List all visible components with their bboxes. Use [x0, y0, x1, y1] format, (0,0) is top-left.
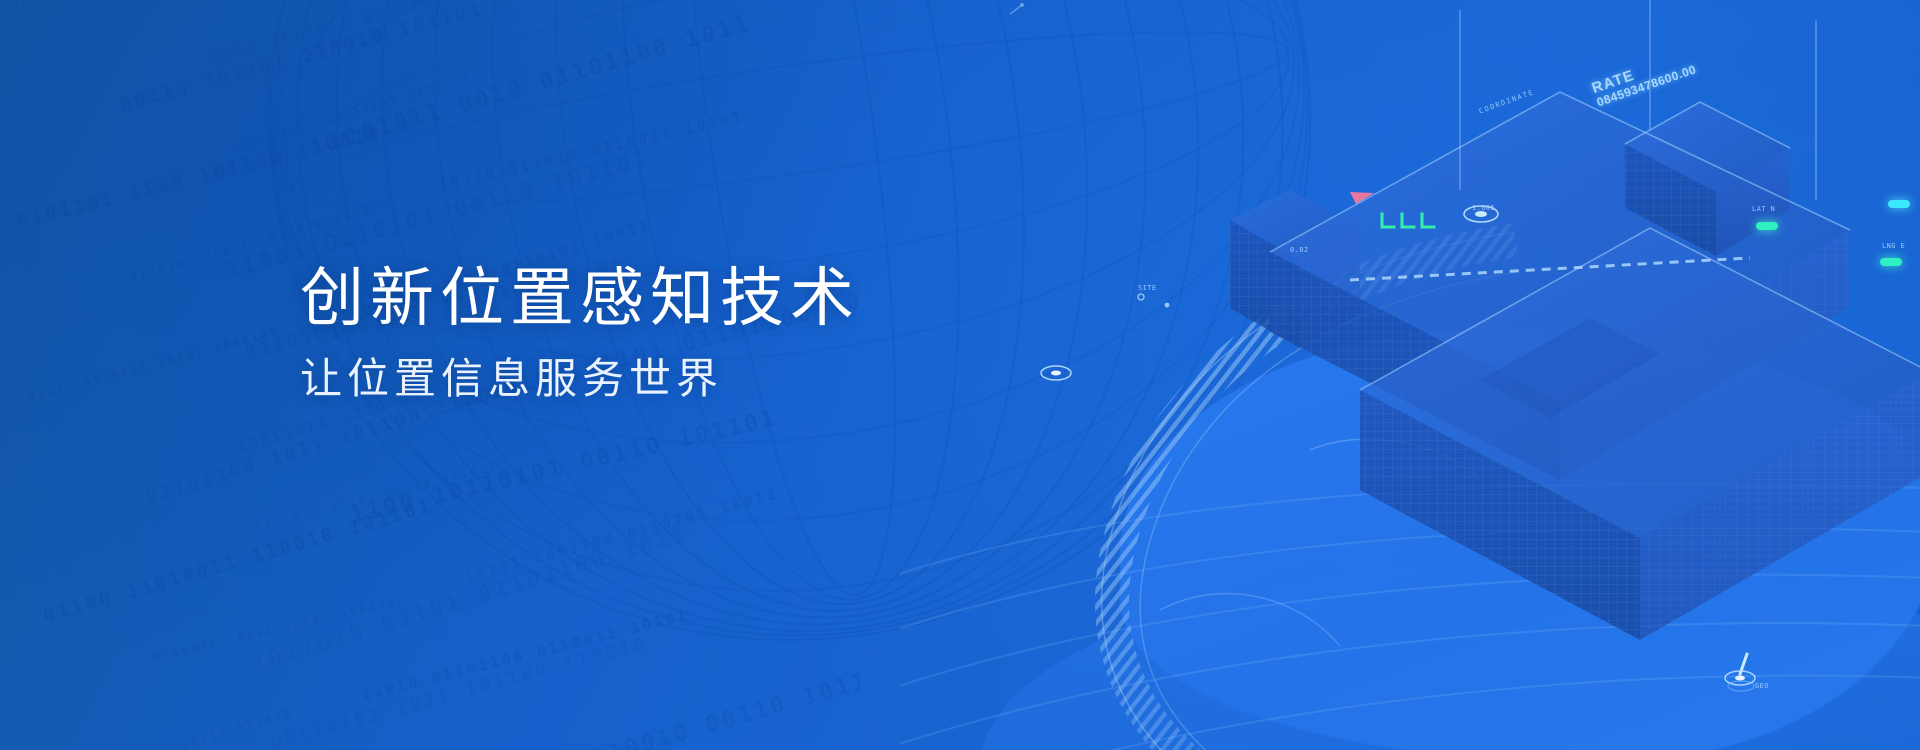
hud-tag-lng: LNG E	[1882, 242, 1905, 250]
hud-tag-site: SITE	[1138, 284, 1156, 292]
page-title: 创新位置感知技术	[300, 264, 1060, 333]
status-pill	[1756, 222, 1778, 230]
status-pill	[1888, 200, 1910, 208]
hero-copy: 创新位置感知技术 让位置信息服务世界	[300, 264, 1060, 402]
page-subtitle: 让位置信息服务世界	[300, 355, 1060, 402]
status-pill	[1880, 258, 1902, 266]
hero-banner: 01001101 1101 10110 0110101010 0110011 0…	[0, 0, 1920, 750]
hud-tag-rate-sub: 1.005	[1472, 204, 1495, 212]
isometric-city-model	[1230, 80, 1920, 640]
hud-tag-lat: LAT N	[1752, 205, 1775, 213]
binary-text-row: 01001101 1101 10110 011010	[52, 706, 295, 750]
binary-text-row: 0101 10110011 10101 1001100	[27, 325, 281, 405]
hud-tag-scale: 0.82	[1290, 246, 1308, 254]
binary-text-row: 01001101 1101 10110 011010	[2, 0, 249, 15]
hud-tag-geo: GEO	[1755, 682, 1769, 690]
